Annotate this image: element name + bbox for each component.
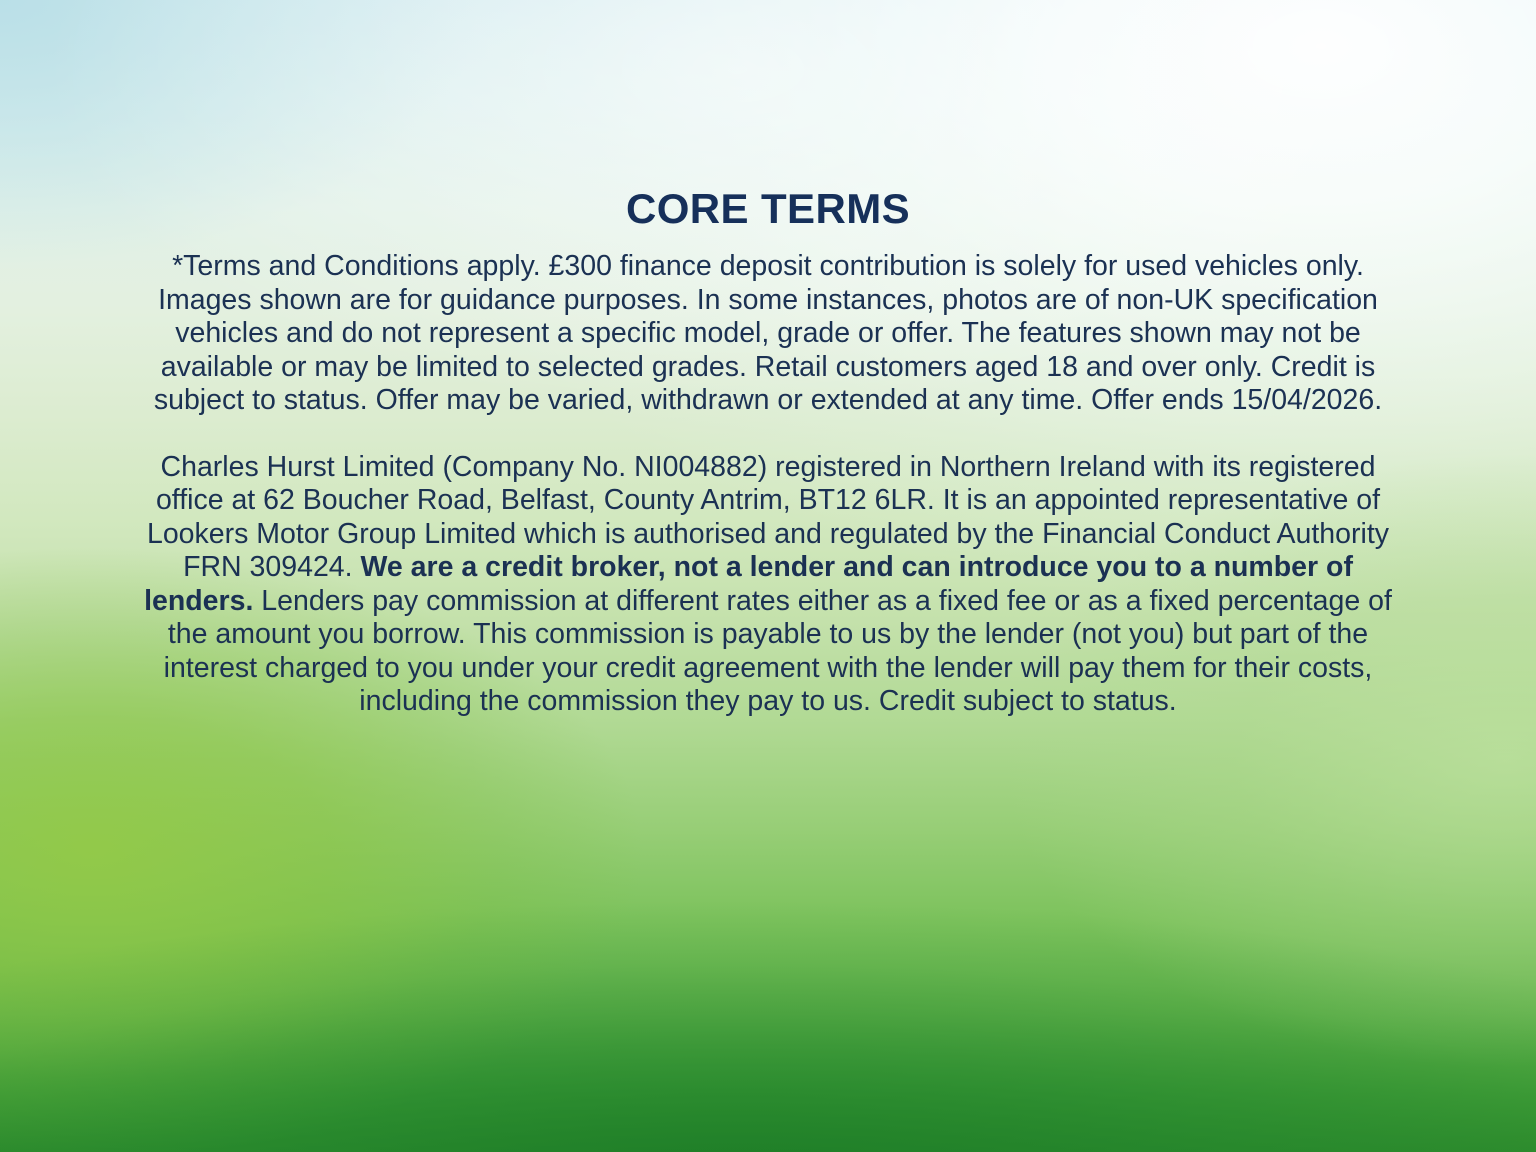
core-terms-slide: CORE TERMS *Terms and Conditions apply. …: [0, 0, 1536, 1152]
page-title: CORE TERMS: [0, 186, 1536, 231]
terms-body: *Terms and Conditions apply. £300 financ…: [132, 250, 1404, 719]
terms-and-conditions-paragraph: *Terms and Conditions apply. £300 financ…: [132, 250, 1404, 418]
paragraph-spacer: [132, 418, 1404, 451]
disclosure-trailing-text: Lenders pay commission at different rate…: [164, 585, 1392, 718]
regulatory-disclosure-paragraph: Charles Hurst Limited (Company No. NI004…: [132, 451, 1404, 719]
slide-content: CORE TERMS *Terms and Conditions apply. …: [0, 0, 1536, 1152]
